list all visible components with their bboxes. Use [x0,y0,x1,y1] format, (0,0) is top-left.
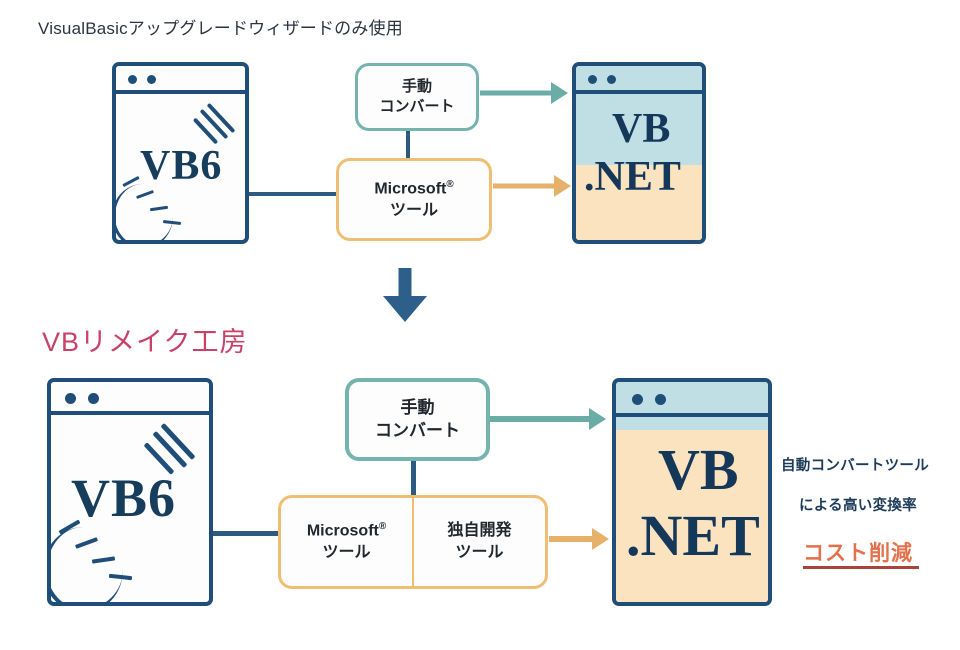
vb6-window-top: VB6 [112,62,249,244]
connector-manual-to-tool-bottom [411,461,416,497]
vbnet-window-bottom: VB .NET [612,378,772,606]
connector-vb6-to-tool-top [249,192,338,196]
vbnet-label-line1: VB [658,441,739,499]
manual-convert-line2: コンバート [375,421,460,440]
connector-manual-to-tool-top [406,131,410,159]
vbnet-label-line2: .NET [626,507,760,565]
window-dot [128,75,137,84]
window-title-bar [616,382,768,417]
window-dot [632,394,643,405]
crack-arc-icon [47,527,123,606]
custom-tool-line2: ツール [455,544,503,561]
window-dot [88,393,99,404]
manual-arrow-top [480,82,568,104]
vbnet-label-line1: VB [612,108,670,150]
manual-convert-line1: 手動 [401,398,435,417]
custom-tool-cell: 独自開発 ツール [412,498,545,586]
vbnet-window-top: VB .NET [572,62,706,244]
tool-arrow-top [493,175,571,197]
custom-tool-label: 独自開発 ツール [447,520,511,563]
window-title-bar [116,66,245,94]
diagram-canvas: VisualBasicアップグレードウィザードのみ使用 VB6 手動 コンバ [0,0,960,650]
tool-box-bottom: Microsoft® ツール 独自開発 ツール [278,495,548,589]
vbnet-label-line2: .NET [584,156,681,198]
tool-arrow-bottom [549,527,609,551]
microsoft-tool-name: Microsoft [374,180,446,197]
window-dot [588,75,597,84]
window-body: VB .NET [576,94,702,244]
top-section-title: VisualBasicアップグレードウィザードのみ使用 [38,14,403,39]
microsoft-tool-label: Microsoft® ツール [374,178,453,222]
microsoft-tool-cell: Microsoft® ツール [281,498,412,586]
window-body: VB6 [51,415,209,606]
connector-vb6-to-tool-bottom [213,531,279,536]
manual-convert-line1: 手動 [402,78,432,95]
manual-convert-label: 手動 コンバート [375,397,460,443]
microsoft-tool-box-top: Microsoft® ツール [336,158,492,241]
vbnet-strip-fill [616,417,768,430]
cost-reduction-underline [803,566,919,569]
cost-reduction-label: コスト削減 [803,537,913,567]
microsoft-tool-label: Microsoft® ツール [307,520,386,564]
window-dot [607,75,616,84]
window-body: VB6 [116,94,245,244]
microsoft-tool-line2: ツール [390,202,438,219]
vb6-label: VB6 [140,142,222,190]
annotation-line2: による高い変換率 [799,494,917,515]
window-dot [655,394,666,405]
annotation-line1: 自動コンバートツール [781,454,929,475]
manual-arrow-bottom [490,407,606,431]
window-dot [65,393,76,404]
microsoft-tool-line2: ツール [322,544,370,561]
manual-convert-box-bottom: 手動 コンバート [345,378,490,461]
manual-convert-box-top: 手動 コンバート [355,63,479,131]
window-dot [147,75,156,84]
vb6-window-bottom: VB6 [47,378,213,606]
down-arrow [383,268,427,322]
window-title-bar [576,66,702,94]
brand-title: VBリメイク工房 [42,320,247,359]
microsoft-tool-name: Microsoft [307,523,379,540]
registered-icon: ® [379,521,386,532]
vb6-label: VB6 [71,467,176,529]
custom-tool-name: 独自開発 [447,522,511,539]
registered-icon: ® [446,179,453,190]
manual-convert-line2: コンバート [379,98,454,115]
window-body: VB .NET [616,417,768,603]
manual-convert-label: 手動 コンバート [379,77,454,118]
window-title-bar [51,382,209,415]
